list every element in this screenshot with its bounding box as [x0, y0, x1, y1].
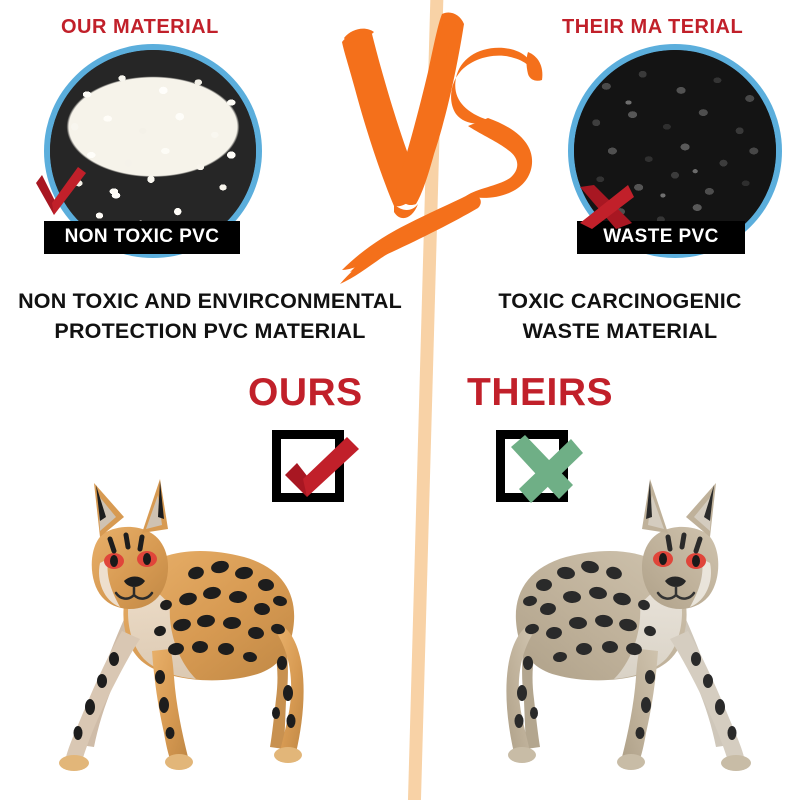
ours-title: OURS	[248, 371, 363, 415]
red-check-icon	[30, 163, 92, 225]
red-x-icon	[578, 183, 634, 231]
red-checkmark-icon	[267, 423, 367, 523]
theirs-title: THEIRS	[467, 371, 613, 415]
right-column-header: THEIR MA TERIAL	[562, 16, 743, 39]
comparison-infographic: OUR MATERIAL NON TOXIC PVC NON TOXIC AND…	[0, 0, 800, 800]
ours-checkbox	[272, 430, 344, 502]
right-description: TOXIC CARCINOGENIC WASTE MATERIAL	[440, 286, 800, 346]
right-description-line-2: WASTE MATERIAL	[440, 316, 800, 346]
right-description-line-1: TOXIC CARCINOGENIC	[440, 286, 800, 316]
left-material-badge: NON TOXIC PVC	[44, 221, 240, 254]
left-description-line-1: NON TOXIC AND ENVIRCONMENTAL	[0, 286, 420, 316]
left-column-header: OUR MATERIAL	[61, 16, 219, 39]
left-description-line-2: PROTECTION PVC MATERIAL	[0, 316, 420, 346]
versus-brush-graphic	[338, 8, 548, 293]
theirs-checkbox	[496, 430, 568, 502]
left-description: NON TOXIC AND ENVIRCONMENTAL PROTECTION …	[0, 286, 420, 346]
green-x-icon	[491, 423, 591, 523]
